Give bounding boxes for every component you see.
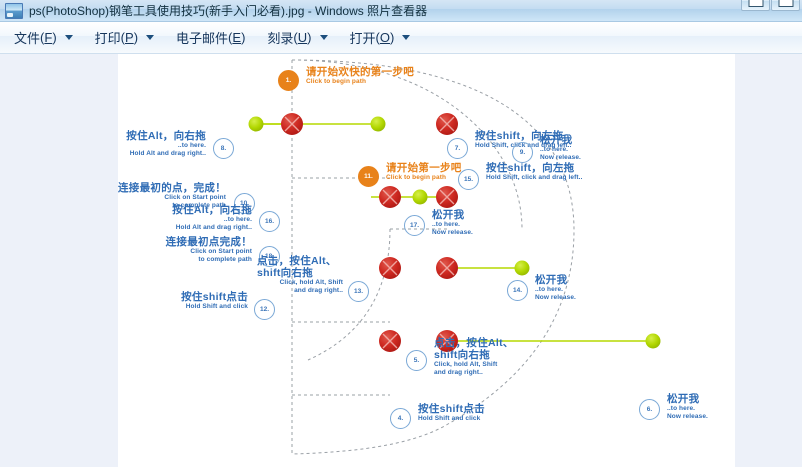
photo-viewer-window: ps(PhotoShop)钢笔工具使用技巧(新手入门必看).jpg - Wind… — [0, 0, 802, 467]
menu-item-file[interactable]: 文件 (F) — [0, 22, 81, 54]
anchor-point — [379, 186, 401, 208]
menu-item-burn[interactable]: 刻录 (U) — [253, 22, 335, 54]
menu-item-file-accel: F — [44, 30, 52, 45]
chevron-down-icon — [320, 35, 328, 40]
photo-viewer-icon — [5, 3, 23, 19]
step-label-1: 请开始欢快的第一步吧 Click to begin path — [306, 66, 414, 86]
menu-item-email-label: 电子邮件 — [176, 28, 228, 47]
step-marker-12[interactable]: 12. — [254, 299, 275, 320]
step-label-6: 松开我 ..to here. Now release. — [667, 393, 708, 421]
menu-item-print-label: 打印 — [95, 28, 121, 47]
chevron-down-icon — [402, 35, 410, 40]
image-canvas[interactable]: 1. 请开始欢快的第一步吧 Click to begin path 8. 按住A… — [118, 54, 735, 467]
step-label-5: 点击，按住Alt、shift向右拖 Click, hold Alt, Shift… — [434, 337, 520, 377]
anchor-point — [436, 186, 458, 208]
menu-item-print[interactable]: 打印 (P) — [81, 22, 162, 54]
step-marker-16[interactable]: 16. — [259, 211, 280, 232]
menu-item-file-label: 文件 — [14, 28, 40, 47]
step-marker-17[interactable]: 17. — [404, 215, 425, 236]
window-controls — [740, 0, 800, 11]
step-label-15: 按住shift，向左拖 Hold Shift, click and drag l… — [486, 162, 582, 182]
anchor-point — [281, 113, 303, 135]
step-marker-13[interactable]: 13. — [348, 281, 369, 302]
anchor-point — [379, 330, 401, 352]
handle-point — [413, 190, 428, 205]
window-title: ps(PhotoShop)钢笔工具使用技巧(新手入门必看).jpg - Wind… — [29, 2, 427, 19]
maximize-button[interactable] — [771, 0, 800, 11]
step-marker-8[interactable]: 8. — [213, 138, 234, 159]
handle-point — [249, 117, 264, 132]
step-label-17: 松开我 ..to here. Now release. — [432, 209, 473, 237]
step-label-14: 松开我 ..to here. Now release. — [535, 274, 576, 302]
menu-bar: 文件 (F) 打印 (P) 电子邮件 (E) 刻录 (U) 打开 (O) — [0, 22, 802, 54]
step-marker-7[interactable]: 7. — [447, 138, 468, 159]
chevron-down-icon — [65, 35, 73, 40]
menu-item-email-accel: E — [232, 30, 241, 45]
step-marker-14[interactable]: 14. — [507, 280, 528, 301]
step-label-13: 点击，按住Alt、shift向右拖 Click, hold Alt, Shift… — [143, 255, 343, 295]
step-label-9: 松开我 ..to here. Now release. — [540, 134, 581, 162]
step-marker-6[interactable]: 6. — [639, 399, 660, 420]
anchor-point — [436, 257, 458, 279]
menu-item-burn-accel: U — [298, 30, 307, 45]
title-bar: ps(PhotoShop)钢笔工具使用技巧(新手入门必看).jpg - Wind… — [0, 0, 802, 22]
step-label-4: 按住shift点击 Hold Shift and click — [418, 403, 485, 423]
step-marker-1[interactable]: 1. — [278, 70, 299, 91]
handle-point — [371, 117, 386, 132]
step-label-12: 按住shift点击 Hold Shift and click — [118, 291, 248, 311]
step-marker-11[interactable]: 11. — [358, 166, 379, 187]
chevron-down-icon — [146, 35, 154, 40]
handle-point — [646, 334, 661, 349]
step-marker-4[interactable]: 4. — [390, 408, 411, 429]
menu-item-open-accel: O — [380, 30, 390, 45]
step-marker-9[interactable]: 9. — [512, 142, 533, 163]
menu-item-email[interactable]: 电子邮件 (E) — [162, 22, 253, 54]
anchor-point — [436, 113, 458, 135]
step-marker-15[interactable]: 15. — [458, 169, 479, 190]
restore-button[interactable] — [741, 0, 770, 11]
step-label-8: 按住Alt，向右拖 ..to here. Hold Alt and drag r… — [118, 130, 206, 158]
menu-item-open[interactable]: 打开 (O) — [336, 22, 419, 54]
menu-item-open-label: 打开 — [350, 28, 376, 47]
handle-point — [515, 261, 530, 276]
menu-item-print-accel: P — [125, 30, 134, 45]
step-label-16: 按住Alt，向右拖 ..to here. Hold Alt and drag r… — [118, 204, 252, 232]
step-marker-5[interactable]: 5. — [406, 350, 427, 371]
step-label-11: 请开始第一步吧 Click to begin path — [386, 162, 462, 182]
viewer-background: 1. 请开始欢快的第一步吧 Click to begin path 8. 按住A… — [0, 54, 802, 467]
anchor-point — [379, 257, 401, 279]
menu-item-burn-label: 刻录 — [267, 28, 293, 47]
